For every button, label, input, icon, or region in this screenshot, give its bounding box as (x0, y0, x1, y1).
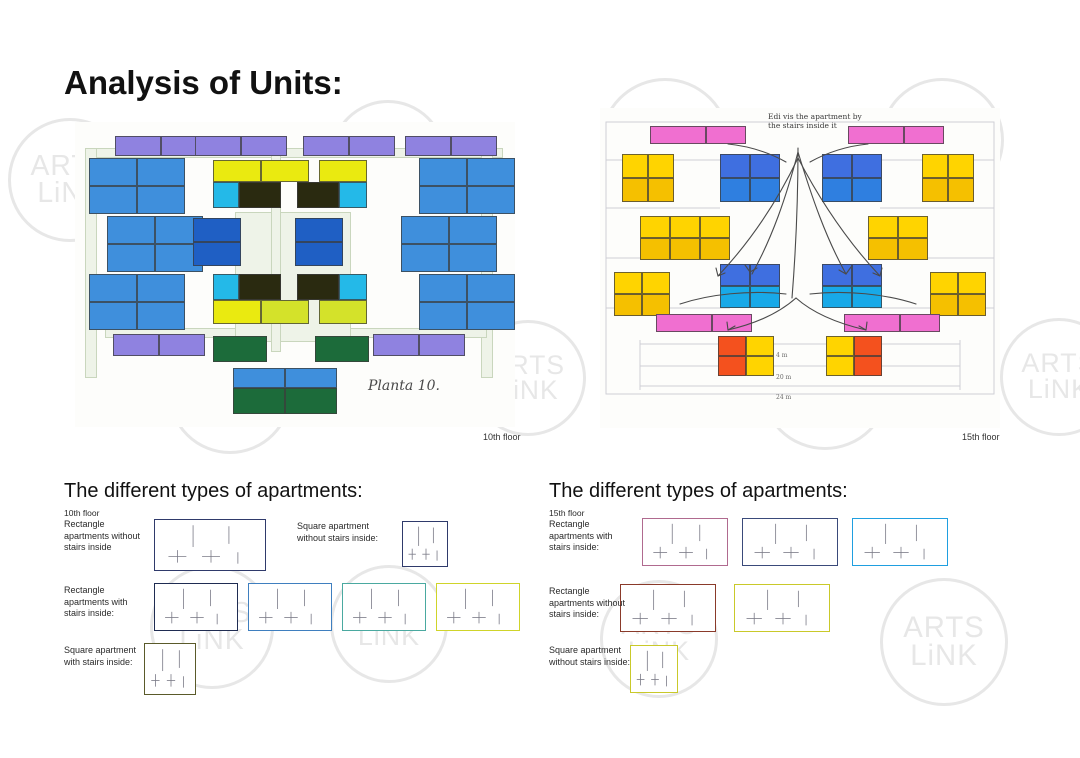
unit-blue-L0-b (137, 158, 185, 186)
unit-blue-b1c (720, 286, 750, 308)
legend-right-label-2: Square apartment without stairs inside: (549, 645, 635, 668)
unit-blue-L2-b (137, 274, 185, 302)
legend-left-label-3: Square apartment with stairs inside: (64, 645, 150, 668)
unit-blue-t1a (720, 154, 750, 178)
thumbnail-interior-lines (853, 519, 949, 567)
apartment-plan-thumbnail (342, 583, 426, 631)
apartment-plan-thumbnail (742, 518, 838, 566)
unit-yellow-l1b (648, 154, 674, 178)
unit-orange-lc (718, 356, 746, 376)
dimension-label-0: 4 m (776, 352, 787, 359)
unit-purple-top-1b (241, 136, 287, 156)
unit-yellow-l1c (622, 178, 648, 202)
thumbnail-interior-lines (403, 522, 449, 568)
apartment-plan-thumbnail (402, 521, 448, 567)
unit-orange-rb (854, 336, 882, 356)
unit-purple-top-1 (195, 136, 241, 156)
apartment-plan-thumbnail (248, 583, 332, 631)
legend-left-heading: The different types of apartments: (64, 480, 363, 503)
unit-blue-R2-b (467, 274, 515, 302)
unit-blue-mid-d (295, 242, 343, 266)
floor-plan-10th (75, 122, 515, 427)
legend-left-label-1: Square apartment without stairs inside: (297, 521, 397, 544)
unit-purple-top-3b (451, 136, 497, 156)
unit-bot-blue-b (285, 368, 337, 388)
unit-pink-bl-a (656, 314, 712, 332)
unit-yellow-l2c (700, 216, 730, 238)
slide-canvas: ARTSLiNKARTSLiNKARTSLiNKARTSLiNKARTSLiNK… (0, 0, 1080, 758)
unit-blue-mid-b (193, 242, 241, 266)
thumbnail-interior-lines (743, 519, 839, 567)
thumbnail-interior-lines (621, 585, 717, 633)
unit-pink-br-b (900, 314, 940, 332)
unit-blue-t1b (750, 154, 780, 178)
unit-blue-L0-d (137, 186, 185, 214)
legend-left-label-2: Rectangle apartments with stairs inside: (64, 585, 150, 620)
unit-yellow-l2f (700, 238, 730, 260)
unit-purple-bl-a (113, 334, 159, 356)
unit-yellow-r1c (922, 178, 948, 202)
floor-plan-15th: 4 m20 m24 m (600, 108, 1000, 428)
thumbnail-interior-lines (155, 584, 239, 632)
apartment-plan-thumbnail (734, 584, 830, 632)
unit-cyan-ub (339, 182, 367, 208)
unit-purple-br-a (373, 334, 419, 356)
dimension-label-2: 24 m (776, 394, 791, 401)
unit-yellow-r2c (868, 238, 898, 260)
unit-orange-ra (826, 336, 854, 356)
unit-orange-ld (746, 356, 774, 376)
thumbnail-interior-lines (343, 584, 427, 632)
unit-yellow-r1b (948, 154, 974, 178)
watermark-line-2: LiNK (1028, 377, 1080, 403)
unit-blue-t2b (852, 154, 882, 178)
unit-yellow-r2a (868, 216, 898, 238)
unit-blue-b2d (852, 286, 882, 308)
arts-link-watermark: ARTSLiNK (880, 578, 1008, 706)
unit-yellow-r1a (922, 154, 948, 178)
unit-pink-br-a (844, 314, 900, 332)
unit-blue-R0-b (467, 158, 515, 186)
unit-blue-L0-c (89, 186, 137, 214)
thumbnail-interior-lines (735, 585, 831, 633)
watermark-line-1: ARTS (903, 614, 985, 642)
legend-right-heading: The different types of apartments: (549, 480, 848, 503)
unit-purple-br-b (419, 334, 465, 356)
unit-orange-rc (826, 356, 854, 376)
thumbnail-interior-lines (145, 644, 197, 696)
thumbnail-interior-lines (631, 646, 679, 694)
unit-blue-R1-c (401, 244, 449, 272)
apartment-plan-thumbnail (852, 518, 948, 566)
unit-blue-b2b (852, 264, 882, 286)
unit-blue-mid-c (295, 218, 343, 242)
page-title: Analysis of Units: (64, 64, 343, 102)
unit-cyan-ua (213, 182, 239, 208)
thumbnail-interior-lines (155, 520, 267, 572)
thumbnail-interior-lines (643, 519, 729, 567)
unit-purple-top-2b (349, 136, 395, 156)
planta-annotation: Planta 10. (368, 378, 440, 394)
unit-yellow-r3d (958, 294, 986, 316)
thumbnail-interior-lines (437, 584, 521, 632)
unit-blue-b2c (822, 286, 852, 308)
unit-blue-R1-d (449, 244, 497, 272)
unit-blue-L1-a (107, 216, 155, 244)
unit-blue-R0-d (467, 186, 515, 214)
legend-right-label-1: Rectangle apartments without stairs insi… (549, 586, 635, 621)
unit-blue-t2c (822, 178, 852, 202)
unit-yellow-la (213, 300, 261, 324)
unit-orange-la (718, 336, 746, 356)
unit-blue-t1d (750, 178, 780, 202)
unit-blue-L0-a (89, 158, 137, 186)
unit-bot-blue-a (233, 368, 285, 388)
unit-blue-L2-d (137, 302, 185, 330)
unit-cyan-la (213, 274, 239, 300)
unit-blue-R0-a (419, 158, 467, 186)
unit-yellow-l1d (648, 178, 674, 202)
unit-bot-green-b (285, 388, 337, 414)
unit-dark-la (239, 274, 281, 300)
floor-plan-10th-caption: 10th floor (483, 432, 521, 442)
unit-pink-tl-b (706, 126, 746, 144)
unit-orange-lb (746, 336, 774, 356)
unit-pink-tl-a (650, 126, 706, 144)
unit-yellow-l3b (642, 272, 670, 294)
unit-purple-top-3 (405, 136, 451, 156)
legend-left-label-0: Rectangle apartments without stairs insi… (64, 519, 150, 554)
thumbnail-interior-lines (249, 584, 333, 632)
unit-blue-R2-a (419, 274, 467, 302)
unit-blue-L2-a (89, 274, 137, 302)
unit-yellow-l2a (640, 216, 670, 238)
unit-blue-t2d (852, 178, 882, 202)
unit-blue-t2a (822, 154, 852, 178)
unit-orange-rd (854, 356, 882, 376)
legend-left-floor: 10th floor (64, 508, 99, 518)
unit-yellow-l1a (622, 154, 648, 178)
apartment-plan-thumbnail (630, 645, 678, 693)
unit-yellow-r1d (948, 178, 974, 202)
unit-blue-b1b (750, 264, 780, 286)
unit-yellow-lb (261, 300, 309, 324)
unit-blue-t1c (720, 178, 750, 202)
unit-bot-green-a (233, 388, 285, 414)
unit-yellow-l3c (614, 294, 642, 316)
unit-yellow-r2b (898, 216, 928, 238)
legend-right-label-0: Rectangle apartments with stairs inside: (549, 519, 635, 554)
stairs-annotation: Edi vis the apartment by the stairs insi… (768, 112, 874, 130)
unit-purple-top-0 (115, 136, 161, 156)
unit-yellow-r3c (930, 294, 958, 316)
watermark-line-2: LiNK (910, 642, 977, 670)
unit-yellow-uc (319, 160, 367, 182)
apartment-plan-thumbnail (436, 583, 520, 631)
unit-blue-R2-c (419, 302, 467, 330)
apartment-plan-thumbnail (144, 643, 196, 695)
unit-yellow-lc (319, 300, 367, 324)
unit-yellow-ua (213, 160, 261, 182)
apartment-plan-thumbnail (642, 518, 728, 566)
unit-pink-tr-b (904, 126, 944, 144)
dimension-label-1: 20 m (776, 374, 791, 381)
unit-blue-L2-c (89, 302, 137, 330)
unit-blue-R1-b (449, 216, 497, 244)
unit-yellow-l3a (614, 272, 642, 294)
apartment-plan-thumbnail (154, 583, 238, 631)
unit-green-b (315, 336, 369, 362)
unit-blue-L1-c (107, 244, 155, 272)
unit-blue-mid-a (193, 218, 241, 242)
unit-blue-R1-a (401, 216, 449, 244)
unit-yellow-r3a (930, 272, 958, 294)
floor-plan-15th-caption: 15th floor (962, 432, 1000, 442)
unit-dark-ua (239, 182, 281, 208)
unit-yellow-r2d (898, 238, 928, 260)
legend-right-floor: 15th floor (549, 508, 584, 518)
unit-dark-lb (297, 274, 339, 300)
apartment-plan-thumbnail (154, 519, 266, 571)
unit-yellow-l2e (670, 238, 700, 260)
arts-link-watermark: ARTSLiNK (1000, 318, 1080, 436)
unit-yellow-r3b (958, 272, 986, 294)
unit-yellow-l2d (640, 238, 670, 260)
unit-dark-ub (297, 182, 339, 208)
unit-blue-b2a (822, 264, 852, 286)
unit-purple-top-2 (303, 136, 349, 156)
unit-purple-bl-b (159, 334, 205, 356)
unit-pink-bl-b (712, 314, 752, 332)
unit-green-a (213, 336, 267, 362)
unit-blue-R2-d (467, 302, 515, 330)
watermark-line-1: ARTS (1021, 351, 1080, 377)
unit-blue-R0-c (419, 186, 467, 214)
unit-blue-b1a (720, 264, 750, 286)
unit-yellow-l3d (642, 294, 670, 316)
unit-yellow-ub (261, 160, 309, 182)
unit-blue-b1d (750, 286, 780, 308)
unit-yellow-l2b (670, 216, 700, 238)
unit-cyan-lb (339, 274, 367, 300)
